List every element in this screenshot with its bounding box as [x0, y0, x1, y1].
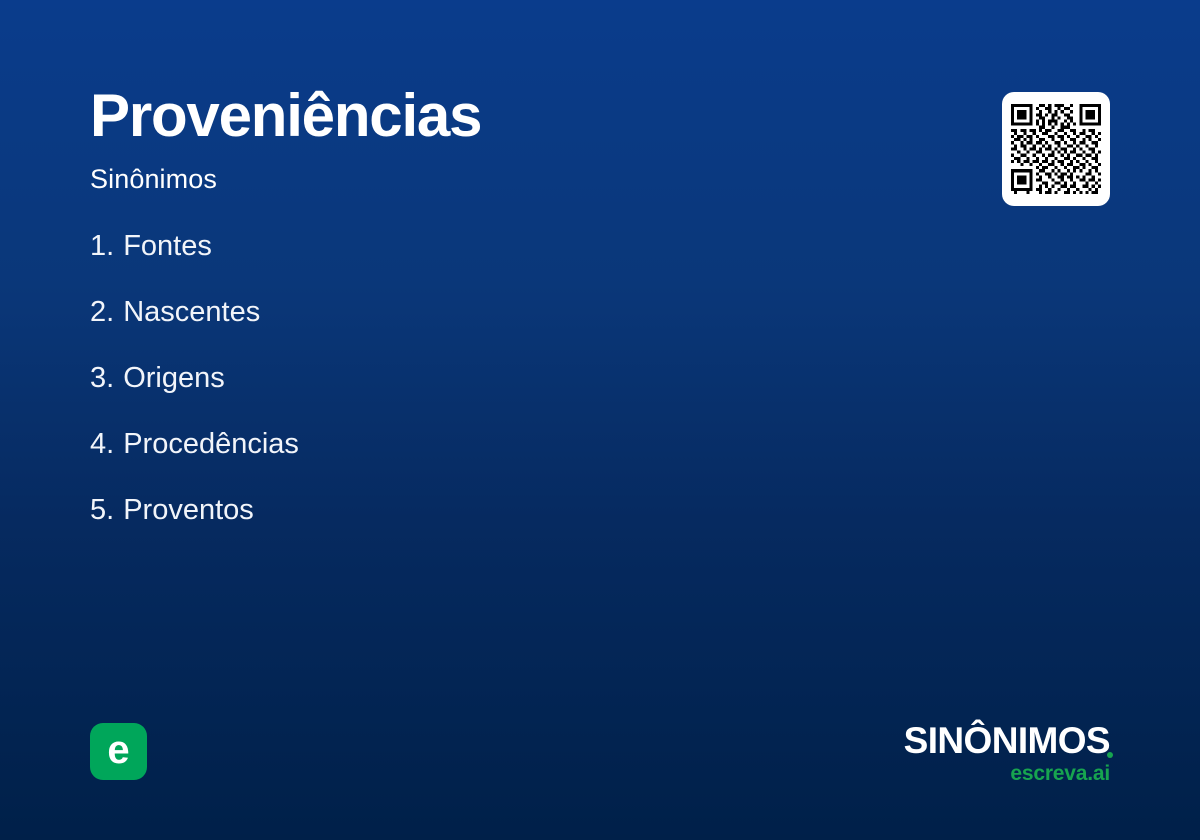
list-item-label: Proventos: [123, 494, 254, 526]
list-item-label: Fontes: [123, 230, 212, 262]
brand-logo-text: SINÔNIMOS: [904, 720, 1110, 761]
list-item-number: 1.: [90, 230, 114, 262]
page-title: Proveniências: [90, 86, 481, 146]
list-item-number: 5.: [90, 494, 114, 526]
badge-letter: e: [107, 730, 129, 770]
list-item-number: 4.: [90, 428, 114, 460]
list-item: 3.Origens: [90, 364, 299, 393]
list-item: 5.Proventos: [90, 496, 299, 525]
card-header: Proveniências Sinônimos: [90, 86, 481, 195]
list-item: 4.Procedências: [90, 430, 299, 459]
synonym-list: 1.Fontes 2.Nascentes 3.Origens 4.Procedê…: [90, 232, 299, 562]
list-item-label: Procedências: [123, 428, 299, 460]
brand-logo-dot-icon: [1107, 752, 1113, 758]
list-item: 1.Fontes: [90, 232, 299, 261]
page-subtitle: Sinônimos: [90, 164, 481, 195]
brand-logo-subtitle: escreva.ai: [904, 763, 1110, 784]
list-item-number: 2.: [90, 296, 114, 328]
synonym-card: Proveniências Sinônimos 1.Fontes 2.Nasce…: [0, 0, 1200, 840]
qr-code-svg: [1011, 101, 1101, 197]
list-item-label: Nascentes: [123, 296, 260, 328]
list-item-number: 3.: [90, 362, 114, 394]
brand-logo-title: SINÔNIMOS: [904, 722, 1110, 759]
brand-logo[interactable]: SINÔNIMOS escreva.ai: [904, 722, 1110, 784]
escreva-badge-icon[interactable]: e: [90, 723, 147, 780]
qr-code-icon[interactable]: [1002, 92, 1110, 206]
list-item-label: Origens: [123, 362, 225, 394]
list-item: 2.Nascentes: [90, 298, 299, 327]
